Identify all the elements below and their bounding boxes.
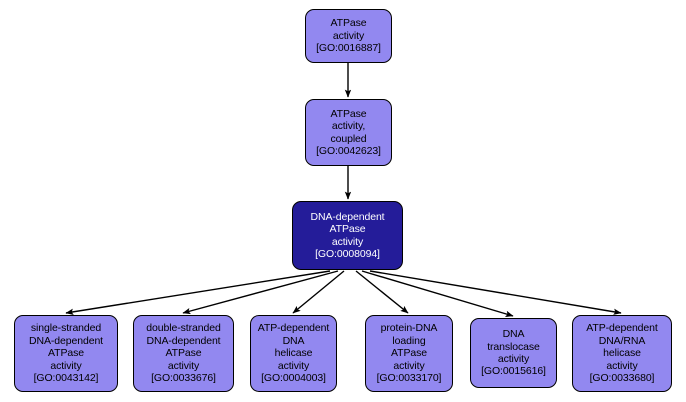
- go-node-line: loading: [392, 335, 425, 347]
- go-node-line: protein-DNA: [381, 322, 438, 334]
- go-node-line: DNA: [503, 328, 525, 340]
- go-node-line: activity,: [332, 120, 365, 132]
- go-node-line: activity: [498, 353, 529, 365]
- go-node-line: ATPase: [331, 108, 367, 120]
- go-node-line: ATPase: [330, 223, 366, 235]
- edge-dna-dependent-to-single-stranded: [66, 271, 330, 313]
- go-node-line: activity: [333, 30, 364, 42]
- go-node-double-stranded-dna-dependent-atpase-activity[interactable]: double-strandedDNA-dependentATPaseactivi…: [133, 315, 234, 392]
- go-node-line: [GO:0004003]: [261, 372, 326, 384]
- go-node-line: [GO:0033676]: [151, 372, 216, 384]
- go-node-line: ATPase: [166, 347, 202, 359]
- go-node-line: DNA/RNA: [599, 335, 646, 347]
- go-node-line: double-stranded: [146, 322, 220, 334]
- go-node-line: helicase: [275, 347, 313, 359]
- go-node-atp-dependent-dna-helicase-activity[interactable]: ATP-dependentDNAhelicaseactivity[GO:0004…: [250, 315, 337, 392]
- go-node-line: ATPase: [331, 17, 367, 29]
- go-node-line: activity: [278, 360, 309, 372]
- go-node-line: activity: [168, 360, 199, 372]
- edge-dna-dependent-to-atp-dependent-dna-helicase: [293, 271, 344, 313]
- edge-dna-dependent-to-dna-translocase: [362, 271, 513, 316]
- go-node-atp-dependent-dna-rna-helicase-activity[interactable]: ATP-dependentDNA/RNAhelicaseactivity[GO:…: [572, 315, 672, 392]
- go-node-line: translocase: [487, 341, 540, 353]
- go-node-line: [GO:0016887]: [316, 42, 381, 54]
- go-node-line: ATP-dependent: [258, 322, 329, 334]
- go-node-dna-dependent-atpase-activity[interactable]: DNA-dependentATPaseactivity[GO:0008094]: [292, 201, 403, 270]
- go-node-line: DNA-dependent: [29, 335, 103, 347]
- go-node-line: [GO:0015616]: [481, 365, 546, 377]
- go-node-line: ATPase: [48, 347, 84, 359]
- go-node-atpase-activity[interactable]: ATPaseactivity[GO:0016887]: [305, 9, 392, 63]
- go-node-line: ATP-dependent: [586, 322, 657, 334]
- go-node-line: [GO:0033170]: [377, 372, 442, 384]
- go-node-line: [GO:0033680]: [590, 372, 655, 384]
- go-node-line: single-stranded: [31, 322, 101, 334]
- go-node-line: [GO:0008094]: [315, 248, 380, 260]
- go-node-protein-dna-loading-atpase-activity[interactable]: protein-DNAloadingATPaseactivity[GO:0033…: [365, 315, 453, 392]
- go-node-line: DNA-dependent: [147, 335, 221, 347]
- go-node-line: [GO:0042623]: [316, 145, 381, 157]
- edge-dna-dependent-to-protein-dna-loading: [356, 271, 408, 313]
- go-node-line: DNA: [283, 335, 305, 347]
- go-node-dna-translocase-activity[interactable]: DNAtranslocaseactivity[GO:0015616]: [470, 318, 557, 388]
- go-node-line: DNA-dependent: [311, 211, 385, 223]
- go-graph-canvas: ATPaseactivity[GO:0016887]ATPaseactivity…: [0, 0, 686, 402]
- go-node-line: activity: [606, 360, 637, 372]
- go-node-line: activity: [393, 360, 424, 372]
- go-node-line: ATPase: [391, 347, 427, 359]
- go-node-line: helicase: [603, 347, 641, 359]
- go-node-line: coupled: [330, 133, 366, 145]
- go-node-single-stranded-dna-dependent-atpase-activity[interactable]: single-strandedDNA-dependentATPaseactivi…: [14, 315, 118, 392]
- go-node-atpase-activity-coupled[interactable]: ATPaseactivity,coupled[GO:0042623]: [305, 99, 392, 166]
- go-node-line: activity: [50, 360, 81, 372]
- go-node-line: [GO:0043142]: [34, 372, 99, 384]
- edge-dna-dependent-to-atp-dependent-dna-rna-helicase: [370, 271, 621, 313]
- go-node-line: activity: [332, 236, 363, 248]
- edge-dna-dependent-to-double-stranded: [183, 271, 338, 313]
